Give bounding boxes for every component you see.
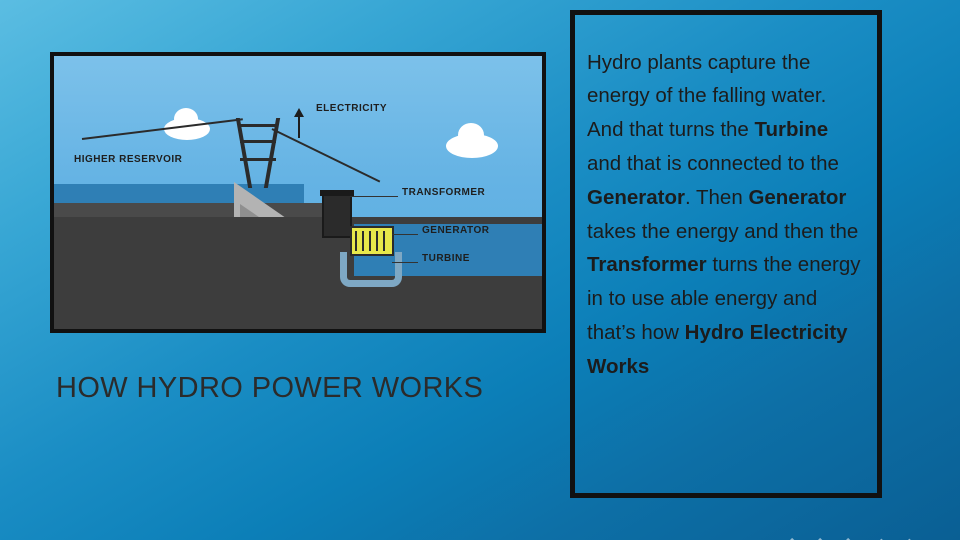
label-generator: GENERATOR — [422, 225, 489, 236]
leader-line-turbine — [392, 262, 418, 263]
text-bold-transformer: Transformer — [587, 253, 707, 276]
slide: ELECTRICITY HIGHER RESERVOIR TRANSFORMER… — [0, 0, 960, 540]
label-electricity: ELECTRICITY — [316, 103, 387, 114]
page-title: HOW HYDRO POWER WORKS — [56, 368, 526, 408]
text-bold-generator-1: Generator — [587, 186, 685, 209]
label-turbine: TURBINE — [422, 253, 470, 264]
transformer-icon — [322, 194, 352, 238]
label-higher-reservoir: HIGHER RESERVOIR — [74, 154, 182, 165]
hydro-diagram-image: ELECTRICITY HIGHER RESERVOIR TRANSFORMER… — [50, 52, 546, 333]
electricity-arrow-stem — [298, 116, 300, 138]
text-bold-generator-2: Generator — [748, 186, 846, 209]
text-bold-turbine: Turbine — [755, 118, 829, 141]
leader-line-transformer — [350, 196, 398, 197]
text-part-2: and that is connected to the — [587, 152, 839, 175]
diagram-canvas: ELECTRICITY HIGHER RESERVOIR TRANSFORMER… — [54, 56, 542, 329]
leader-line-generator — [392, 234, 418, 235]
transmission-pylon-icon — [240, 118, 276, 188]
label-transformer: TRANSFORMER — [402, 187, 485, 198]
cloud-icon — [446, 134, 498, 158]
turbine-icon — [340, 252, 402, 287]
text-panel: Hydro plants capture the energy of the f… — [570, 10, 882, 498]
text-part-4: takes the energy and then the — [587, 220, 858, 243]
text-part-3: . Then — [685, 186, 748, 209]
body-paragraph: Hydro plants capture the energy of the f… — [587, 46, 865, 384]
electricity-arrow-icon — [294, 108, 304, 117]
